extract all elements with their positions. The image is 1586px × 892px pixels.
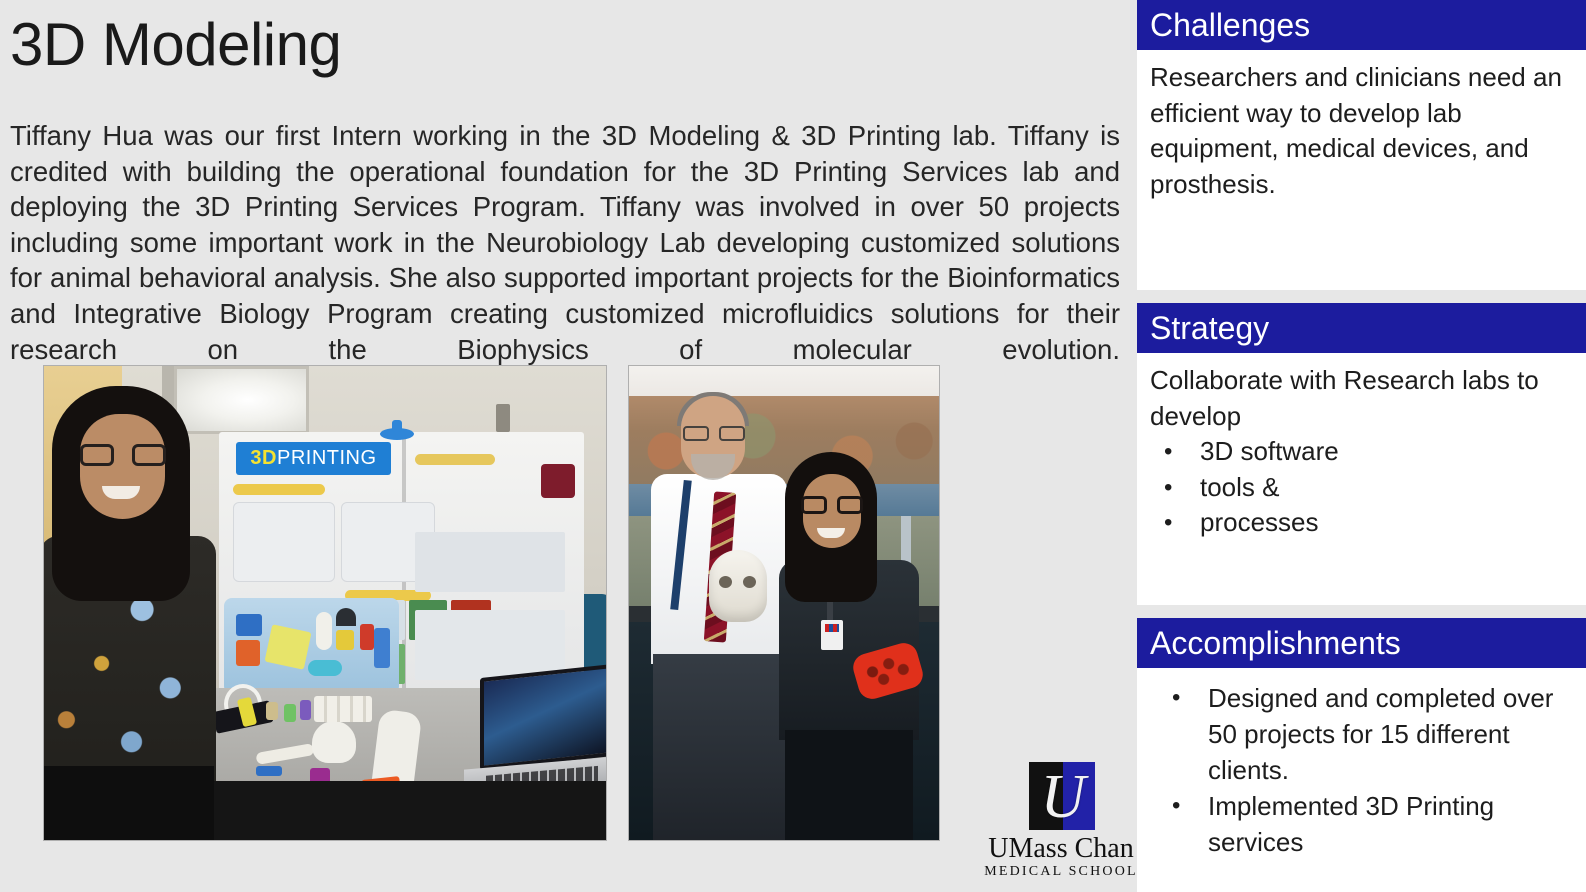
photo1-light-switch xyxy=(496,404,510,432)
panel-strategy-bullets: 3D software tools & processes xyxy=(1150,434,1572,541)
photo2-woman-glasses xyxy=(801,496,863,514)
photo1-laptop-screen xyxy=(480,664,606,770)
panel-challenges-header: Challenges xyxy=(1137,0,1586,50)
photo1-intern-glasses xyxy=(80,444,166,466)
photo1-sample-5 xyxy=(336,608,356,626)
photo2-printed-skull xyxy=(709,550,767,622)
panel-strategy: Strategy Collaborate with Research labs … xyxy=(1137,303,1586,605)
right-panels-column: Challenges Researchers and clinicians ne… xyxy=(1137,0,1586,892)
photo-intern-scene: 3DPRINTING xyxy=(44,366,606,840)
logo-script-u: U xyxy=(1027,765,1099,829)
photo2-man-pants xyxy=(653,654,785,840)
left-content-column: 3D Modeling Tiffany Hua was our first In… xyxy=(0,0,1137,892)
panel-challenges-title: Challenges xyxy=(1150,8,1310,42)
page-title: 3D Modeling xyxy=(10,8,341,82)
list-item: 3D software xyxy=(1150,434,1572,470)
list-item: Designed and completed over 50 projects … xyxy=(1150,680,1572,788)
photo1-process-strip xyxy=(415,532,565,592)
photo1-results-strip xyxy=(415,610,565,680)
list-item: Implemented 3D Printing services xyxy=(1150,788,1572,860)
photo-skull-scene xyxy=(629,366,939,840)
photo-skull-presentation xyxy=(629,366,939,840)
panel-strategy-header: Strategy xyxy=(1137,303,1586,353)
umass-chan-logo: U UMass Chan MEDICAL SCHOOL xyxy=(966,762,1156,882)
panel-strategy-paragraph: Collaborate with Research labs to develo… xyxy=(1150,363,1572,434)
photo1-tan-part xyxy=(266,702,278,720)
photo1-sample-2 xyxy=(236,640,260,666)
panel-challenges-paragraph: Researchers and clinicians need an effic… xyxy=(1150,60,1572,202)
photo1-sample-6 xyxy=(336,630,354,650)
photo1-sample-7 xyxy=(360,624,374,650)
photo1-blue-flat xyxy=(256,766,282,776)
photo1-panel-1 xyxy=(233,502,335,582)
photo-intern-with-poster: 3DPRINTING xyxy=(44,366,606,840)
photo1-printed-vials xyxy=(314,696,372,722)
photo1-poster-banner: 3DPRINTING xyxy=(236,442,391,475)
panel-strategy-body: Collaborate with Research labs to develo… xyxy=(1137,353,1586,541)
photo1-section-bar-3 xyxy=(415,454,495,465)
panel-challenges-body: Researchers and clinicians need an effic… xyxy=(1137,50,1586,202)
panel-strategy-title: Strategy xyxy=(1150,311,1269,345)
panel-accomplishments-title: Accomplishments xyxy=(1150,626,1401,660)
logo-subtitle: MEDICAL SCHOOL xyxy=(966,864,1156,880)
photo2-skull-eye-left xyxy=(719,576,732,588)
umass-chan-logo-mark: U xyxy=(1007,762,1115,830)
panel-accomplishments-bullets: Designed and completed over 50 projects … xyxy=(1150,680,1572,860)
panel-accomplishments-body: Designed and completed over 50 projects … xyxy=(1137,668,1586,860)
panel-accomplishments-header: Accomplishments xyxy=(1137,618,1586,668)
photo1-purple-part xyxy=(300,700,311,720)
logo-wordmark: UMass Chan xyxy=(966,834,1156,864)
photo2-skull-eye-right xyxy=(743,576,756,588)
photo2-woman xyxy=(779,452,919,840)
photo1-intern xyxy=(44,386,219,840)
photo1-intern-pants xyxy=(44,766,214,840)
list-item: tools & xyxy=(1150,470,1572,506)
photo1-sample-1 xyxy=(236,614,262,636)
slide-canvas: 3D Modeling Tiffany Hua was our first In… xyxy=(0,0,1586,892)
photo1-sample-tray xyxy=(224,598,399,694)
photo2-woman-pants xyxy=(785,730,913,840)
panel-accomplishments: Accomplishments Designed and completed o… xyxy=(1137,618,1586,892)
photo1-banner-3d: 3D xyxy=(250,447,277,470)
photo1-green-part xyxy=(284,704,296,722)
photo2-woman-id-badge xyxy=(821,620,843,650)
photo1-intern-face xyxy=(80,414,165,519)
body-paragraph: Tiffany Hua was our first Intern working… xyxy=(10,118,1120,403)
photo2-man-glasses xyxy=(683,426,745,441)
panel-challenges: Challenges Researchers and clinicians ne… xyxy=(1137,0,1586,290)
photo1-section-bar-1 xyxy=(233,484,325,495)
list-item: processes xyxy=(1150,505,1572,541)
photo1-sample-3 xyxy=(264,624,311,669)
photo1-printed-skull xyxy=(312,721,356,763)
photo1-board-clip xyxy=(380,428,414,440)
photo1-banner-printing: PRINTING xyxy=(277,447,377,470)
photo1-university-seal xyxy=(541,464,575,498)
photo1-sample-9 xyxy=(308,660,342,676)
photo1-sample-8 xyxy=(374,628,390,668)
photo1-sample-4 xyxy=(316,612,332,650)
